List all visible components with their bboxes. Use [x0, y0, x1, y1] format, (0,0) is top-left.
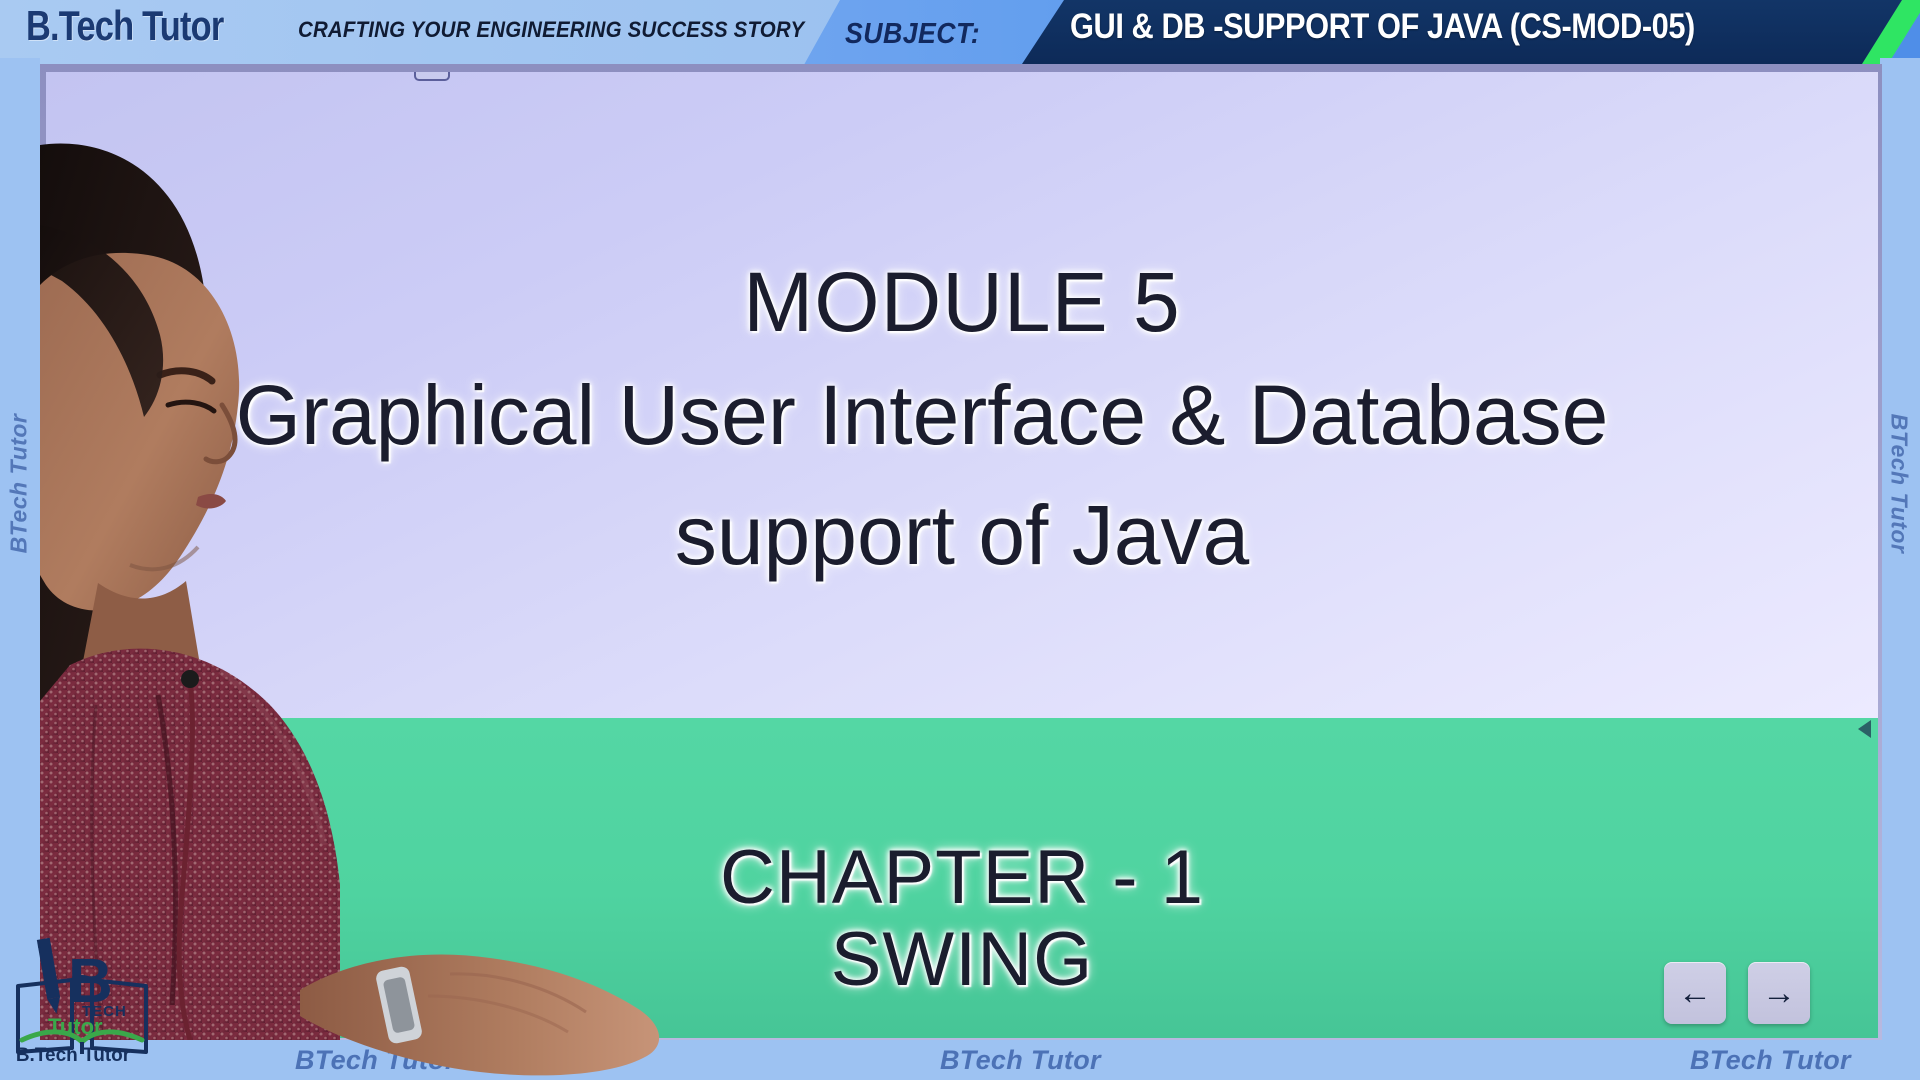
page-header: B.Tech Tutor CRAFTING YOUR ENGINEERING S…	[0, 0, 1920, 72]
frame-right-band	[1880, 58, 1920, 1080]
watermark-right: BTech Tutor	[1886, 399, 1913, 569]
watermark-bottom-3: BTech Tutor	[1690, 1045, 1851, 1076]
presenter-video-overlay	[40, 105, 360, 1040]
arrow-right-icon: →	[1762, 976, 1796, 1010]
brand-tagline: CRAFTING YOUR ENGINEERING SUCCESS STORY	[298, 17, 804, 43]
subject-label: SUBJECT:	[845, 18, 980, 51]
presenter-figure	[40, 105, 360, 1040]
slide-navigation: ← →	[1664, 962, 1810, 1024]
watermark-bottom-2: BTech Tutor	[940, 1045, 1101, 1076]
brand-logotype: B.Tech Tutor	[26, 2, 223, 50]
subject-title: GUI & DB -SUPPORT OF JAVA (CS-MOD-05)	[1070, 7, 1792, 47]
slide-top-notch-icon	[414, 72, 450, 81]
next-slide-button[interactable]: →	[1748, 962, 1810, 1024]
logo-tutor-text: Tutor	[48, 1014, 103, 1039]
watermark-left: BTech Tutor	[6, 399, 33, 569]
presenter-hand	[300, 930, 720, 1080]
arrow-left-icon: ←	[1678, 976, 1712, 1010]
previous-slide-button[interactable]: ←	[1664, 962, 1726, 1024]
frame-left-band	[0, 58, 40, 1080]
slide-edge-marker-icon	[1858, 720, 1871, 738]
logo-caption: B.Tech Tutor	[8, 1045, 138, 1067]
